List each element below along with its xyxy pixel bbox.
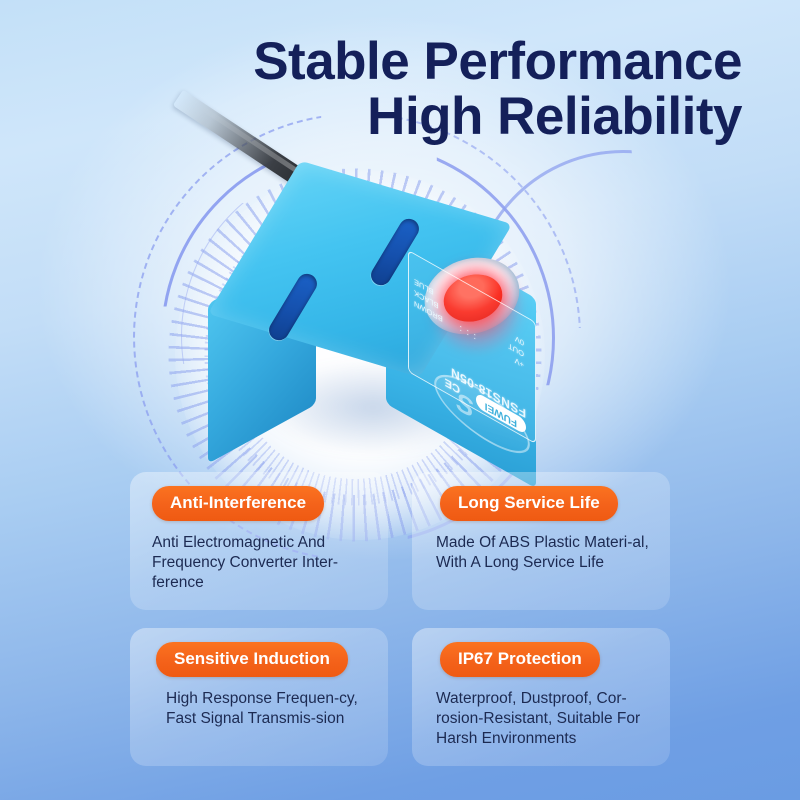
feature-description: Waterproof, Dustproof, Cor-rosion-Resist… [436,689,652,748]
pin-labels: +V OUT 0V [508,328,524,370]
feature-description: Anti Electromagnetic And Frequency Conve… [152,533,370,592]
product-image-inductive-proximity-sensor: FUWEI CE FSNS18-05N +V OUT 0V : : : BROW… [150,60,580,490]
product-poster: Stable Performance High Reliability FUWE… [0,0,800,800]
feature-badge: Sensitive Induction [156,642,348,677]
feature-card-ip67-protection: IP67 Protection Waterproof, Dustproof, C… [412,628,670,766]
wiring-diagram-dots: : : : [458,322,476,343]
feature-description: High Response Frequen-cy, Fast Signal Tr… [166,689,370,729]
feature-description: Made Of ABS Plastic Materi-al, With A Lo… [436,533,652,573]
feature-card-grid: Anti-Interference Anti Electromagnetic A… [130,472,670,766]
feature-card-sensitive-induction: Sensitive Induction High Response Freque… [130,628,388,766]
feature-card-long-service-life: Long Service Life Made Of ABS Plastic Ma… [412,472,670,610]
feature-card-anti-interference: Anti-Interference Anti Electromagnetic A… [130,472,388,610]
feature-badge: Long Service Life [440,486,618,521]
feature-badge: IP67 Protection [440,642,600,677]
feature-badge: Anti-Interference [152,486,324,521]
wire-color-labels: BROWN BLACK BLUE [414,275,443,324]
